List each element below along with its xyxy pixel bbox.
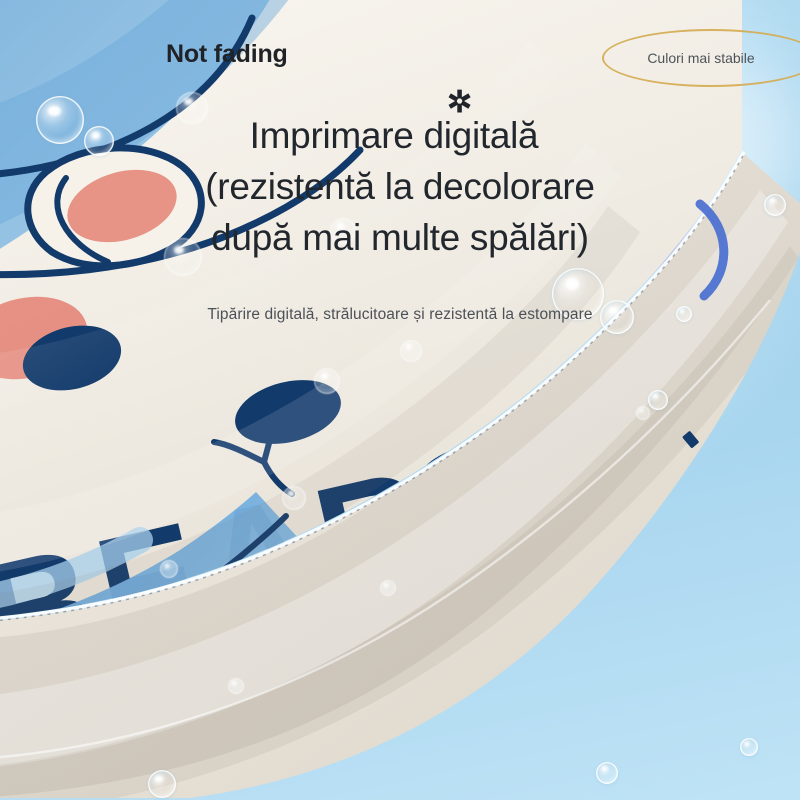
- badge-label: Culori mai stabile: [602, 29, 800, 87]
- headline-line-3: după mai multe spălări): [0, 212, 800, 263]
- kicker-not-fading: Not fading: [166, 40, 288, 69]
- badge-culori-mai-stabile: Culori mai stabile: [602, 29, 800, 87]
- subheadline: Tipărire digitală, strălucitoare și rezi…: [0, 306, 800, 324]
- headline-line-1: Imprimare digitală: [0, 110, 800, 161]
- product-feature-banner: BEAR: [0, 0, 800, 800]
- headline: Imprimare digitală (rezistentă la decolo…: [0, 110, 800, 263]
- headline-line-2: (rezistentă la decolorare: [0, 161, 800, 212]
